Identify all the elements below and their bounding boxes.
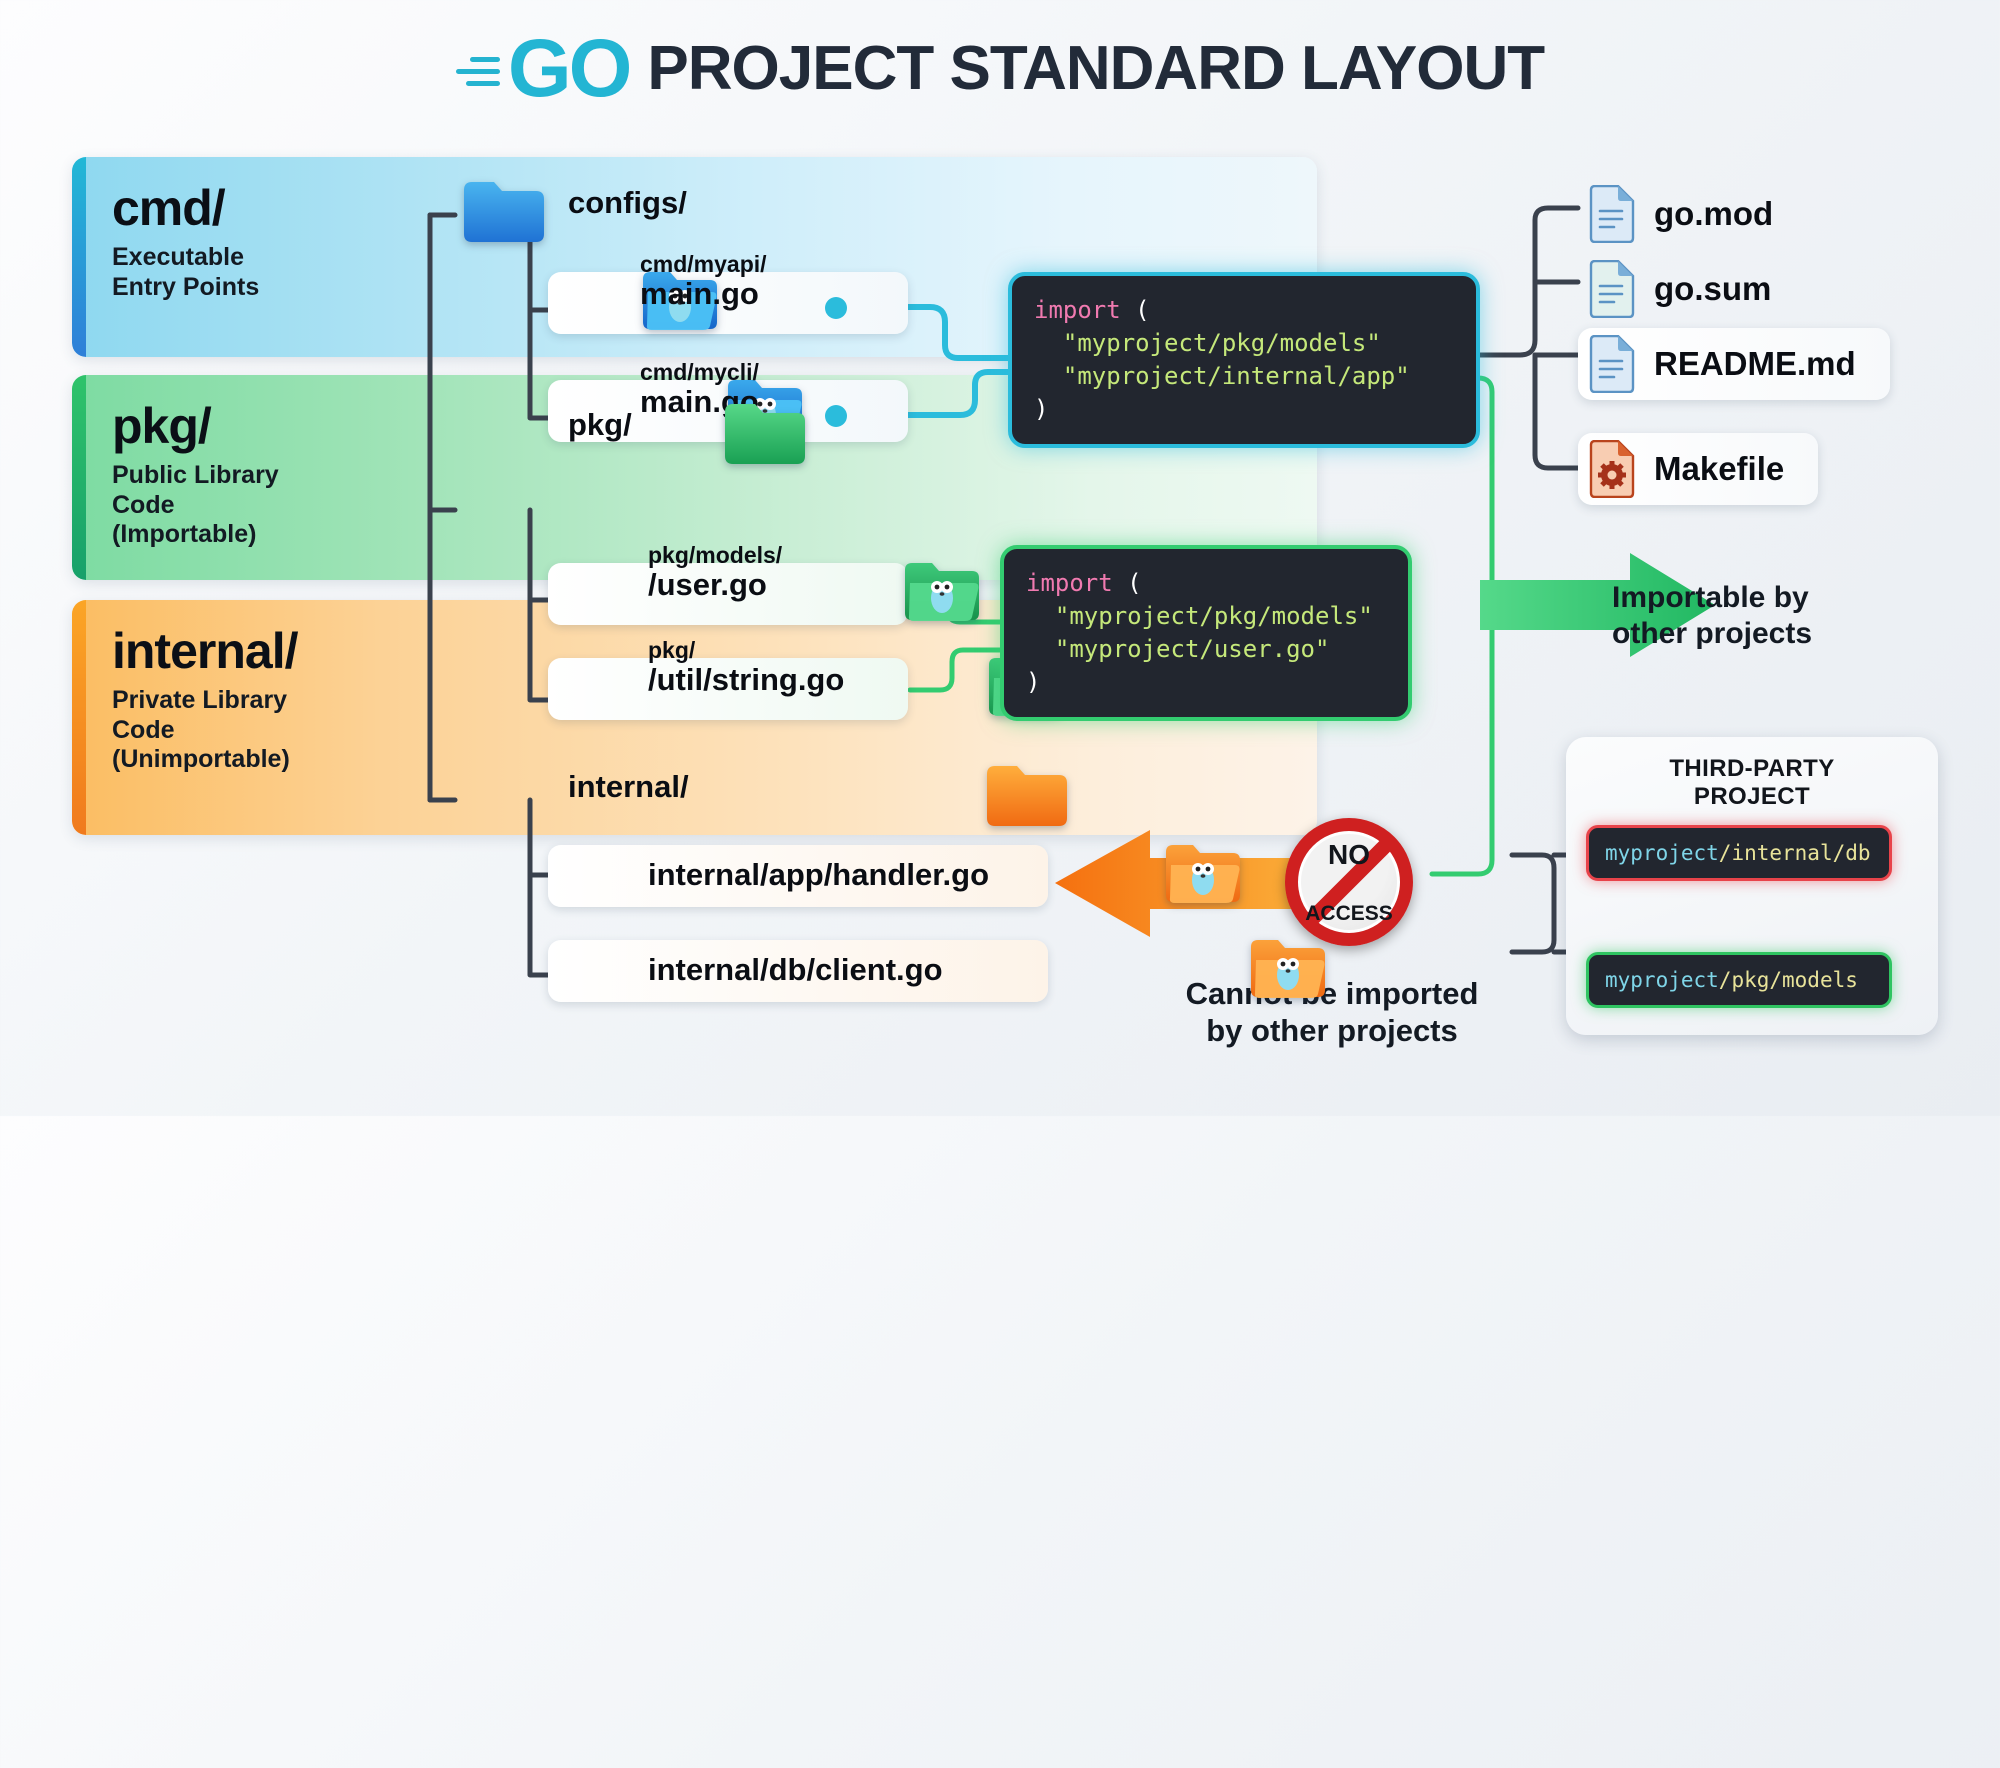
folder-label-configs: configs/ — [568, 186, 687, 220]
code-block-pkg-imports: import ( "myproject/pkg/models" "myproje… — [1000, 545, 1412, 721]
root-file-name: go.mod — [1654, 195, 1773, 233]
no-access-text-top: NO — [1285, 839, 1413, 871]
speed-lines-icon — [456, 57, 500, 86]
band-accent-stripe — [72, 157, 86, 357]
infographic-canvas: GO PROJECT STANDARD LAYOUT cmd/ Executab… — [0, 0, 2000, 1116]
no-access-text-bottom: ACCESS — [1285, 902, 1413, 926]
band-subtitle-line: Code — [112, 491, 279, 521]
band-subtitle-line: Executable — [112, 243, 259, 273]
page-title: GO PROJECT STANDARD LAYOUT — [0, 28, 2000, 110]
connector-dot — [824, 404, 848, 428]
importable-label: Importable by other projects — [1612, 580, 1812, 652]
file-label-pkg-models: pkg/models/ /user.go — [648, 543, 782, 602]
band-label-cmd: cmd/ Executable Entry Points — [112, 183, 259, 302]
title-heading: PROJECT STANDARD LAYOUT — [647, 38, 1544, 100]
document-icon — [1588, 260, 1636, 318]
band-title: cmd/ — [112, 183, 259, 233]
band-subtitle: Private Library Code (Unimportable) — [112, 686, 297, 775]
band-accent-stripe — [72, 375, 86, 580]
band-title: internal/ — [112, 626, 297, 676]
go-speed-logo-icon: GO — [456, 28, 630, 110]
document-icon — [1588, 185, 1636, 243]
band-title: pkg/ — [112, 401, 279, 451]
band-subtitle: Executable Entry Points — [112, 243, 259, 302]
root-file-go-sum[interactable]: go.sum — [1578, 253, 1805, 325]
document-icon — [1588, 335, 1636, 393]
connector-dot — [824, 296, 848, 320]
file-label-internal-handler: internal/app/handler.go — [648, 858, 989, 892]
band-subtitle-line: Code — [112, 716, 297, 746]
third-party-forbidden-import: myproject/internal/db — [1586, 825, 1892, 881]
root-file-name: README.md — [1654, 345, 1856, 383]
root-file-name: Makefile — [1654, 450, 1784, 488]
root-file-go-mod[interactable]: go.mod — [1578, 178, 1807, 250]
gopher-mascot-icon — [924, 576, 960, 616]
folder-icon-pkg[interactable] — [721, 400, 809, 473]
band-subtitle-line: Entry Points — [112, 273, 259, 303]
band-label-internal: internal/ Private Library Code (Unimport… — [112, 626, 297, 775]
band-subtitle-line: Public Library — [112, 461, 279, 491]
folder-icon-configs[interactable] — [460, 178, 548, 251]
no-access-badge-icon: NO ACCESS — [1285, 818, 1413, 946]
folder-label-pkg: pkg/ — [568, 408, 632, 442]
third-party-project-card: THIRD-PARTY PROJECT myproject/internal/d… — [1566, 737, 1938, 1035]
file-label-cmd-myapi: cmd/myapi/ main.go — [640, 252, 767, 311]
file-label-pkg-util: pkg/ /util/string.go — [648, 638, 844, 697]
gopher-mascot-icon — [1270, 953, 1306, 993]
file-label-internal-client: internal/db/client.go — [648, 953, 943, 987]
band-subtitle: Public Library Code (Importable) — [112, 461, 279, 550]
root-file-makefile[interactable]: Makefile — [1578, 433, 1818, 505]
folder-icon-internal[interactable] — [983, 762, 1071, 835]
code-block-cmd-imports: import ( "myproject/pkg/models" "myproje… — [1008, 272, 1480, 448]
third-party-allowed-import: myproject/pkg/models — [1586, 952, 1892, 1008]
root-file-name: go.sum — [1654, 270, 1771, 308]
band-accent-stripe — [72, 600, 86, 835]
third-party-title: THIRD-PARTY PROJECT — [1566, 755, 1938, 811]
band-subtitle-line: Private Library — [112, 686, 297, 716]
not-importable-label: Cannot be imported by other projects — [1162, 975, 1502, 1049]
gopher-mascot-icon — [1185, 858, 1221, 898]
root-file-readme[interactable]: README.md — [1578, 328, 1890, 400]
folder-label-internal: internal/ — [568, 770, 689, 804]
band-subtitle-line: (Importable) — [112, 520, 279, 550]
band-subtitle-line: (Unimportable) — [112, 745, 297, 775]
band-label-pkg: pkg/ Public Library Code (Importable) — [112, 401, 279, 550]
folder-icon-gopher-orange — [1163, 841, 1243, 912]
folder-icon-gopher-green — [902, 559, 982, 630]
folder-icon-gopher-orange — [1248, 936, 1328, 1007]
gear-document-icon — [1588, 440, 1636, 498]
go-wordmark: GO — [508, 28, 630, 110]
